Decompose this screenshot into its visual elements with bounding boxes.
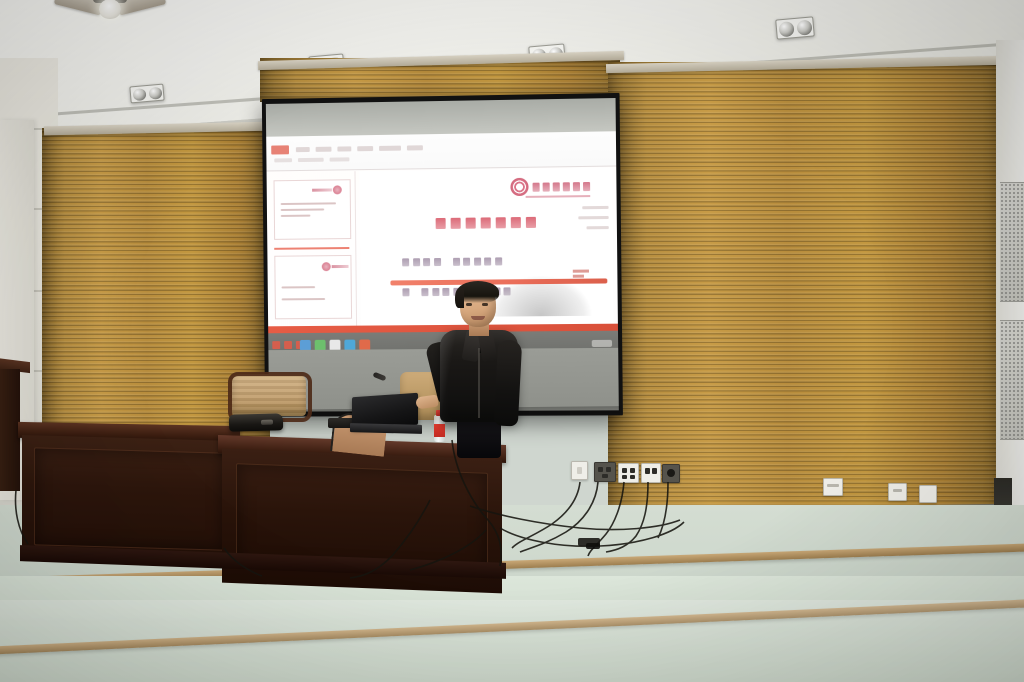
ribbon-command-group[interactable] [330, 157, 350, 161]
downlight-icon [775, 16, 815, 39]
wall-switch-plate[interactable] [888, 483, 907, 501]
ribbon-tab[interactable] [379, 146, 401, 151]
laptop-bag[interactable] [229, 413, 283, 431]
downlight-icon [129, 84, 164, 104]
ribbon-tab[interactable] [357, 146, 373, 151]
presenter-hand [415, 395, 438, 410]
ribbon-command-group[interactable] [274, 158, 292, 162]
wall-outlet-round[interactable] [662, 464, 680, 483]
jacket-zipper [478, 348, 480, 418]
presenter-mouth [471, 316, 485, 320]
lecture-hall-photo [0, 0, 1024, 682]
presenter-sideburn [455, 288, 464, 308]
presentation-ribbon[interactable] [266, 131, 616, 171]
laptop-computer[interactable] [350, 395, 422, 435]
university-seal-logo [510, 177, 590, 196]
floor-reflection [0, 600, 1024, 682]
ribbon-file-tab[interactable] [271, 145, 289, 154]
desk-panel-left [34, 447, 224, 550]
slide-right-meta [564, 206, 609, 237]
presider-desk[interactable] [18, 424, 488, 589]
wall-outlet-box[interactable] [641, 463, 661, 483]
slide-bullet-1 [402, 257, 502, 266]
presenter-right-arm [494, 339, 522, 426]
seal-icon [510, 178, 528, 196]
slide-thumbnail[interactable] [274, 179, 352, 240]
wall-outlet-box[interactable] [594, 462, 616, 482]
slide-thumbnail[interactable] [274, 255, 352, 319]
university-name-text [533, 181, 591, 191]
presenter-legs [457, 416, 501, 458]
ribbon-command-group[interactable] [298, 158, 324, 162]
ceiling-fan-light-icon [55, 0, 165, 26]
wall-switch-plate[interactable] [919, 485, 937, 503]
wall-outlet-box[interactable] [618, 463, 639, 483]
laptop-keyboard-base [350, 423, 422, 434]
ribbon-tab[interactable] [407, 145, 423, 150]
slide-thumbnail-panel[interactable] [270, 171, 358, 332]
taskbar-clock[interactable] [592, 340, 612, 347]
slide-title [436, 217, 536, 229]
presenter-eye-left [466, 303, 472, 306]
ribbon-tab[interactable] [316, 147, 332, 152]
ribbon-tab[interactable] [337, 146, 351, 151]
perforated-acoustic-panel [1000, 182, 1024, 302]
presenter-eye-right [482, 303, 488, 306]
ribbon-tab[interactable] [296, 147, 310, 152]
wall-switch-plate[interactable] [571, 461, 588, 480]
wall-switch-plate[interactable] [823, 478, 843, 496]
logo-underline [526, 195, 591, 197]
presenter [424, 284, 530, 452]
perforated-acoustic-panel [1000, 320, 1024, 440]
